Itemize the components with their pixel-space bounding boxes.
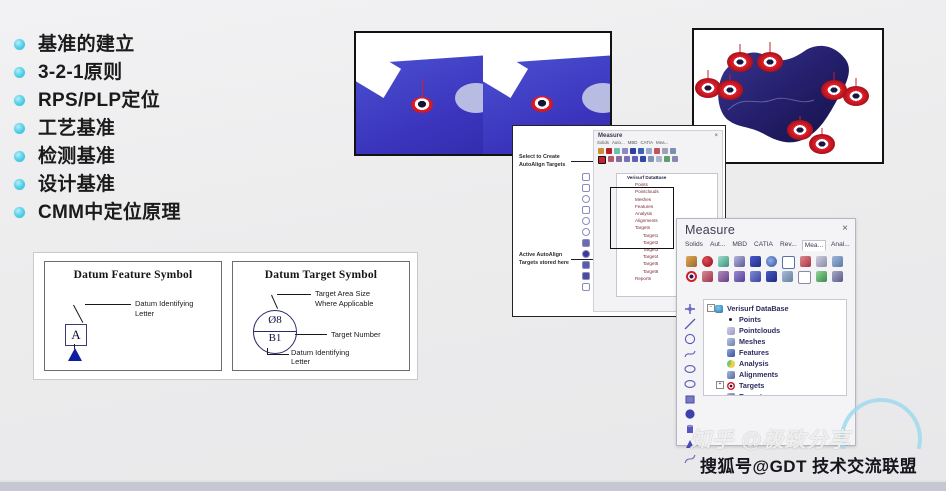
list-item: 检测基准 xyxy=(14,142,324,170)
probe-icon[interactable] xyxy=(622,148,628,154)
pick-icon[interactable] xyxy=(654,148,660,154)
target-area-size-value: Ø8 xyxy=(254,314,296,326)
list-item: CMM中定位原理 xyxy=(14,198,324,226)
bullet-label: 设计基准 xyxy=(38,175,115,194)
bullet-label: 检测基准 xyxy=(38,147,115,166)
slot-tool-icon[interactable] xyxy=(582,228,590,236)
mini-tab[interactable]: MBD xyxy=(628,140,638,145)
alignment-icon xyxy=(727,371,735,379)
circle-tool-icon[interactable] xyxy=(684,332,696,344)
list-item: 设计基准 xyxy=(14,170,324,198)
datum-letter-note-line1: Datum Identifying xyxy=(291,348,349,357)
measure-window[interactable]: Measure × Solids Aut... MBD CATIA Rev...… xyxy=(676,218,856,446)
sphere-tool-icon[interactable] xyxy=(582,250,590,258)
leader-line xyxy=(267,348,268,355)
target-icon xyxy=(727,382,735,390)
window-icon[interactable] xyxy=(646,148,652,154)
annotation-active-targets-line2: Targets stored here xyxy=(519,260,569,267)
mini-toolbar-row1[interactable] xyxy=(594,146,722,156)
toolbar-row-2[interactable] xyxy=(677,271,855,286)
level-icon[interactable] xyxy=(664,156,670,162)
slot-tool-icon[interactable] xyxy=(684,377,696,389)
probe-icon[interactable] xyxy=(734,256,745,267)
datum-letter-note-line1: Datum Identifying xyxy=(135,299,193,308)
plate-view-left xyxy=(356,33,483,154)
bullet-label: 基准的建立 xyxy=(38,35,135,54)
bullet-label: 3-2-1原则 xyxy=(38,63,122,82)
datum-letter-box: A xyxy=(65,324,87,346)
footer-bar xyxy=(0,482,946,491)
cube-tool-icon[interactable] xyxy=(582,239,590,247)
target-area-note-line2: Where Applicable xyxy=(315,299,373,308)
arc-tool-icon[interactable] xyxy=(684,347,696,359)
list-item: 基准的建立 xyxy=(14,30,324,58)
measure-solid-icon[interactable] xyxy=(702,256,713,267)
level-icon[interactable] xyxy=(816,271,827,282)
tree-node-points[interactable]: Points xyxy=(704,314,846,325)
tree-node-verisurf-database[interactable]: Verisurf DataBase xyxy=(704,303,846,314)
tab-measure[interactable]: Mea... xyxy=(802,240,826,251)
align-icon[interactable] xyxy=(608,156,614,162)
tab-mbd[interactable]: MBD xyxy=(730,240,749,251)
list-item: 3-2-1原则 xyxy=(14,58,324,86)
tree-node-label: Reports xyxy=(739,391,766,396)
compare-icon[interactable] xyxy=(782,271,793,282)
watermark-sohu: 搜狐号@GDT 技术交流联盟 xyxy=(700,452,917,477)
datum-letter-note-line2: Letter xyxy=(135,309,154,318)
mini-toolbar-row2[interactable] xyxy=(594,156,722,166)
circle-tool-icon[interactable] xyxy=(582,195,590,203)
compare-icon[interactable] xyxy=(648,156,654,162)
tab-auto[interactable]: Aut... xyxy=(708,240,727,251)
filter-icon[interactable] xyxy=(816,256,827,267)
tab-bar[interactable]: Solids Aut... MBD CATIA Rev... Mea... An… xyxy=(677,237,855,253)
filter-icon[interactable] xyxy=(662,148,668,154)
datum-icon[interactable] xyxy=(632,156,638,162)
tab-reverse[interactable]: Rev... xyxy=(778,240,799,251)
point-tool-icon[interactable] xyxy=(684,302,696,314)
tree-node-label: Features xyxy=(739,347,769,358)
mini-close-icon[interactable]: × xyxy=(714,133,718,139)
point-tool-icon[interactable] xyxy=(582,173,590,181)
leader-line xyxy=(85,304,131,305)
nominal-icon[interactable] xyxy=(672,156,678,162)
bullet-dot-icon xyxy=(14,179,25,190)
tab-catia[interactable]: CATIA xyxy=(752,240,775,251)
target-number-note: Target Number xyxy=(331,330,381,339)
leader-line xyxy=(271,295,278,309)
list-item: RPS/PLP定位 xyxy=(14,86,324,114)
mini-tab[interactable]: Auto... xyxy=(612,140,625,145)
pointcloud-icon xyxy=(727,327,735,335)
target-scan-icon[interactable] xyxy=(670,148,676,154)
spline-tool-icon[interactable] xyxy=(582,283,590,291)
leader-line xyxy=(295,334,327,335)
tree-node-alignments[interactable]: Alignments xyxy=(704,369,846,380)
bullet-dot-icon xyxy=(14,207,25,218)
database-icon xyxy=(715,305,723,313)
target-icon[interactable] xyxy=(686,271,697,282)
tree-node-label: Analysis xyxy=(739,358,769,369)
expander-targets[interactable]: + xyxy=(716,381,724,389)
datum-triangle-icon xyxy=(68,348,82,361)
scan-icon[interactable] xyxy=(630,148,636,154)
mini-window-title: Measure xyxy=(594,131,722,139)
tree-node-meshes[interactable]: Meshes xyxy=(704,336,846,347)
bullet-list: 基准的建立 3-2-1原则 RPS/PLP定位 工艺基准 检测基准 设计基准 C… xyxy=(14,30,324,226)
scan-icon[interactable] xyxy=(750,256,761,267)
annotation-active-targets-line1: Active AutoAlign xyxy=(519,252,562,259)
nominal-icon[interactable] xyxy=(832,271,843,282)
line-tool-icon[interactable] xyxy=(582,184,590,192)
report-icon[interactable] xyxy=(766,271,777,282)
measure-solid-icon[interactable] xyxy=(606,148,612,154)
mini-tab[interactable]: CATIA xyxy=(640,140,653,145)
bullet-dot-icon xyxy=(14,67,25,78)
annotation-select-create-line2: AutoAlign Targets xyxy=(519,162,565,169)
datum-target-symbol-title: Datum Target Symbol xyxy=(233,269,409,281)
datum-feature-symbol-panel: Datum Feature Symbol Datum Identifying L… xyxy=(44,261,222,371)
leader-line xyxy=(267,354,289,355)
close-icon[interactable]: × xyxy=(842,223,848,234)
label-icon[interactable] xyxy=(656,156,662,162)
toolbar-row-1[interactable] xyxy=(677,253,855,271)
bullet-dot-icon xyxy=(14,39,25,50)
cone-tool-icon[interactable] xyxy=(582,272,590,280)
measure-surface-icon[interactable] xyxy=(614,148,620,154)
watermark-zhihu: 知乎 @极致分享 xyxy=(690,424,850,454)
rps-icon[interactable] xyxy=(734,271,745,282)
analysis-icon xyxy=(727,360,735,368)
tree-node-features[interactable]: Features xyxy=(704,347,846,358)
tab-solids[interactable]: Solids xyxy=(683,240,705,251)
datum-feature-symbol-title: Datum Feature Symbol xyxy=(45,269,221,281)
target-marker-icon xyxy=(531,96,553,112)
tree-node-reports[interactable]: Reports xyxy=(704,391,846,396)
datum-letter-note-line2: Letter xyxy=(291,357,310,366)
tree-node-label: Targets xyxy=(739,380,764,391)
best-fit-icon[interactable] xyxy=(718,271,729,282)
annotation-select-create-line1: Select to Create xyxy=(519,154,560,161)
target-area-note-line1: Target Area Size xyxy=(315,289,370,298)
tab-analysis[interactable]: Anal... xyxy=(829,240,852,251)
target-icon[interactable] xyxy=(598,156,606,164)
tree-node-label: Meshes xyxy=(739,336,765,347)
measure-point-icon[interactable] xyxy=(598,148,604,154)
datum-target-symbol-panel: Datum Target Symbol Target Area Size Whe… xyxy=(232,261,410,371)
point-icon xyxy=(729,318,732,321)
bullet-label: RPS/PLP定位 xyxy=(38,91,160,110)
target-number-value: B1 xyxy=(254,332,296,344)
bullet-dot-icon xyxy=(14,95,25,106)
label-icon[interactable] xyxy=(798,271,811,284)
best-fit-icon[interactable] xyxy=(616,156,622,162)
leader-line xyxy=(73,305,83,323)
tree-node-label: Points xyxy=(739,314,761,325)
datum-icon[interactable] xyxy=(750,271,761,282)
cylinder-tool-icon[interactable] xyxy=(582,261,590,269)
window-title: Measure xyxy=(677,219,855,237)
target-marker-icon xyxy=(411,97,433,113)
mini-tree-node[interactable]: Verisurf DataBase xyxy=(617,174,717,181)
sphere-tool-icon[interactable] xyxy=(684,407,696,419)
bullet-label: CMM中定位原理 xyxy=(38,203,181,222)
list-item: 工艺基准 xyxy=(14,114,324,142)
tree-node-label: Alignments xyxy=(739,369,778,380)
mini-tab-bar[interactable]: Solids Auto... MBD CATIA Mea... xyxy=(594,139,722,146)
leader-line xyxy=(277,294,311,295)
bullet-dot-icon xyxy=(14,123,25,134)
rps-icon[interactable] xyxy=(624,156,630,162)
tree-node-analysis[interactable]: Analysis xyxy=(704,358,846,369)
report-icon[interactable] xyxy=(640,156,646,162)
mini-side-toolbar[interactable] xyxy=(581,170,590,300)
target-scan-icon[interactable] xyxy=(832,256,843,267)
bullet-label: 工艺基准 xyxy=(38,119,115,138)
mini-tab[interactable]: Mea... xyxy=(656,140,668,145)
line-tool-icon[interactable] xyxy=(684,317,696,329)
window-icon[interactable] xyxy=(782,256,795,269)
slide-canvas: 基准的建立 3-2-1原则 RPS/PLP定位 工艺基准 检测基准 设计基准 C… xyxy=(0,0,946,491)
report-icon xyxy=(727,393,735,397)
highlight-box-targets xyxy=(610,187,674,249)
inspect-icon[interactable] xyxy=(638,148,644,154)
tree-node-pointclouds[interactable]: Pointclouds xyxy=(704,325,846,336)
mini-tab[interactable]: Solids xyxy=(597,140,609,145)
expander-root[interactable]: − xyxy=(707,304,715,312)
tree-node-label: Verisurf DataBase xyxy=(727,303,789,314)
measure-point-icon[interactable] xyxy=(686,256,697,267)
ellipse-tool-icon[interactable] xyxy=(582,217,590,225)
bullet-dot-icon xyxy=(14,151,25,162)
ellipse-tool-icon[interactable] xyxy=(684,362,696,374)
pick-icon[interactable] xyxy=(800,256,811,267)
align-icon[interactable] xyxy=(702,271,713,282)
inspect-icon[interactable] xyxy=(766,256,777,267)
cube-tool-icon[interactable] xyxy=(684,392,696,404)
arc-tool-icon[interactable] xyxy=(582,206,590,214)
datum-symbols-figure: Datum Feature Symbol Datum Identifying L… xyxy=(33,252,418,380)
feature-icon xyxy=(727,349,735,357)
measure-surface-icon[interactable] xyxy=(718,256,729,267)
tree-node-targets[interactable]: Targets xyxy=(704,380,846,391)
tree-node-label: Pointclouds xyxy=(739,325,780,336)
mesh-icon xyxy=(727,338,735,346)
verisurf-tree-view[interactable]: Verisurf DataBase Points Pointclouds Mes… xyxy=(703,299,847,396)
